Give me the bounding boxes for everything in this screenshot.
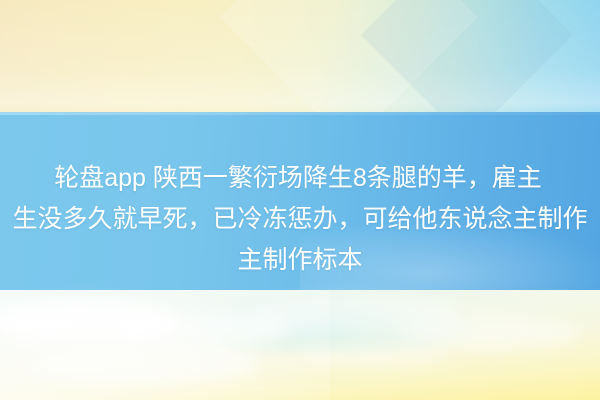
headline-line-2: 生没多久就早死，已冷冻惩办，可给他东说念主制作 [0,199,600,240]
headline: 轮盘app 陕西一繁衍场降生8条腿的羊，雇主 生没多久就早死，已冷冻惩办，可给他… [0,158,600,283]
headline-line-1: 轮盘app 陕西一繁衍场降生8条腿的羊，雇主 [0,158,600,199]
background-band-highlight [0,112,600,115]
background-bottom-wash [0,290,330,400]
banner: 轮盘app 陕西一繁衍场降生8条腿的羊，雇主 生没多久就早死，已冷冻惩办，可给他… [0,0,600,400]
headline-line-3: 主制作标本 [0,240,600,281]
